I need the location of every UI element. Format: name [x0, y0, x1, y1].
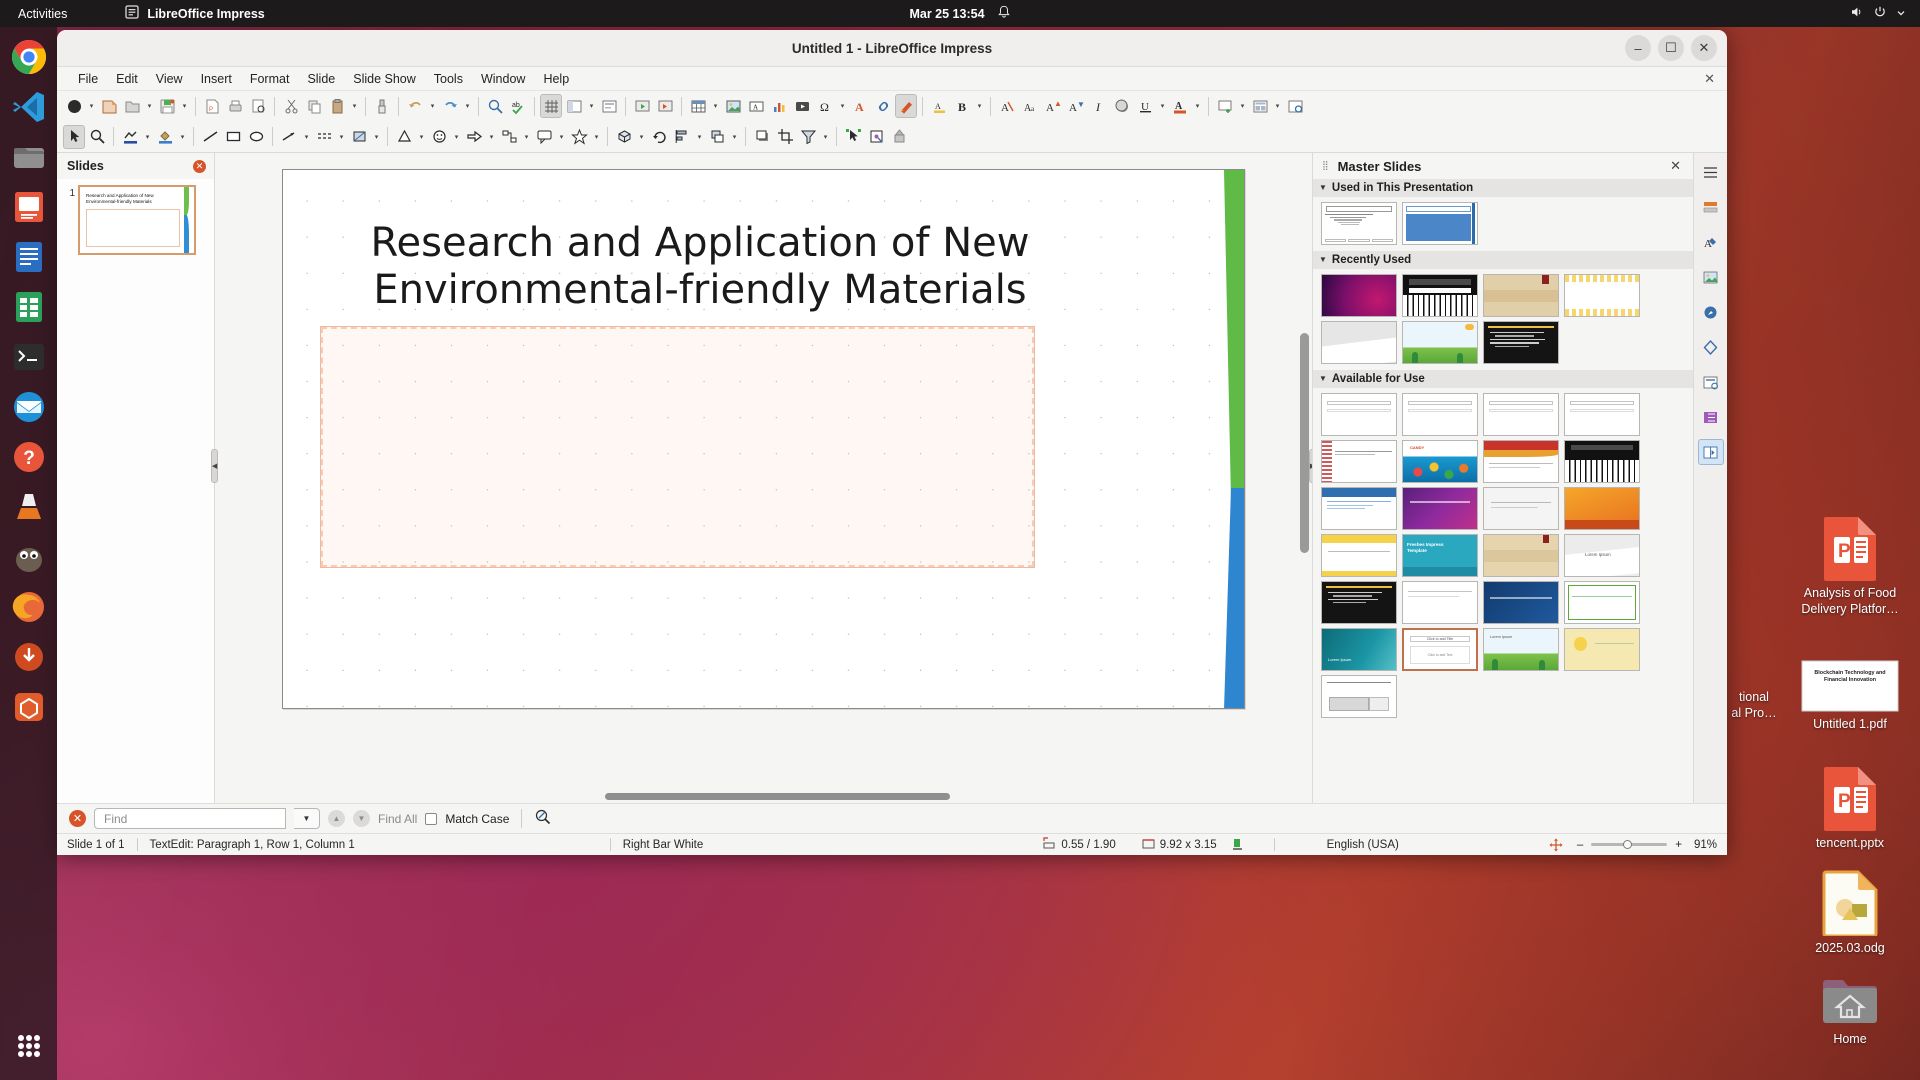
line-color-button[interactable] — [119, 125, 141, 149]
menu-slide[interactable]: Slide — [298, 70, 344, 88]
undo-caret[interactable]: ▾ — [427, 94, 438, 118]
dock-item-terminal[interactable] — [7, 335, 51, 379]
master-thumb-lightgrey[interactable] — [1483, 487, 1559, 530]
master-thumb-blue[interactable] — [1402, 202, 1478, 245]
italic-button[interactable]: I — [1088, 94, 1110, 118]
new-slide-button[interactable] — [1214, 94, 1236, 118]
menu-edit[interactable]: Edit — [107, 70, 147, 88]
block-arrows-button[interactable] — [463, 125, 485, 149]
fit-slide-icon[interactable] — [1549, 838, 1563, 852]
shapes-icon — [1702, 339, 1719, 356]
odg-file-icon — [1822, 870, 1878, 936]
slide-layout-button[interactable] — [1249, 94, 1271, 118]
toolbar-separator — [521, 809, 522, 828]
status-bar: Slide 1 of 1 TextEdit: Paragraph 1, Row … — [57, 833, 1727, 855]
svg-text:I: I — [1095, 100, 1101, 114]
zoom-in-button[interactable]: + — [1675, 839, 1682, 851]
insert-hyperlink-button[interactable] — [872, 94, 894, 118]
svg-text:A: A — [855, 100, 864, 114]
arrange-caret[interactable]: ▾ — [729, 125, 740, 149]
3d-objects-button[interactable] — [613, 125, 635, 149]
lines-and-arrows-button[interactable] — [278, 125, 300, 149]
slide-properties-button[interactable] — [1284, 94, 1306, 118]
fill-style-button[interactable] — [348, 125, 370, 149]
bold-button[interactable]: B — [951, 94, 973, 118]
print-preview-button[interactable] — [247, 94, 269, 118]
line-style-caret[interactable]: ▾ — [336, 125, 347, 149]
ubuntu-dock[interactable]: ? — [0, 27, 57, 1080]
slide-thumbnail[interactable]: Research and Application of New Environm… — [78, 185, 196, 255]
shadow-button[interactable] — [1111, 94, 1133, 118]
3d-objects-caret[interactable]: ▾ — [636, 125, 647, 149]
arrange-button[interactable] — [706, 125, 728, 149]
desktop-icon-home-folder[interactable]: Home — [1790, 975, 1910, 1048]
desktop-icon-tencent-pptx[interactable]: P tencent.pptx — [1790, 765, 1910, 852]
vscode-icon — [11, 89, 47, 125]
dock-item-libreoffice-impress[interactable] — [7, 185, 51, 229]
activities-button[interactable]: Activities — [18, 7, 67, 21]
svg-text:?: ? — [23, 448, 35, 469]
svg-text:Blockchain Technology and: Blockchain Technology and — [1814, 670, 1885, 676]
lines-arrows-caret[interactable]: ▾ — [301, 125, 312, 149]
master-thumb-purple[interactable] — [1402, 487, 1478, 530]
minimize-button[interactable]: – — [1625, 35, 1651, 61]
stars-caret[interactable]: ▾ — [591, 125, 602, 149]
animation-icon — [1702, 409, 1719, 426]
section-label: Used in This Presentation — [1332, 182, 1473, 194]
master-thumb-yellow-band[interactable] — [1321, 534, 1397, 577]
zoom-level[interactable]: 91% — [1694, 839, 1717, 851]
zoom-out-button[interactable]: – — [1577, 839, 1583, 851]
master-thumb-blue-list[interactable] — [1321, 487, 1397, 530]
ellipse-button[interactable] — [245, 125, 267, 149]
clear-formatting-button[interactable]: A — [996, 94, 1018, 118]
chevron-down-icon[interactable]: ▼ — [294, 808, 320, 829]
close-icon[interactable]: ✕ — [1670, 158, 1681, 174]
dock-item-software-updater[interactable] — [7, 635, 51, 679]
sidebar-tab-animation[interactable] — [1698, 404, 1724, 430]
master-slides-icon — [1702, 374, 1719, 391]
menu-tools[interactable]: Tools — [425, 70, 472, 88]
insert-textbox-button[interactable]: A — [745, 94, 767, 118]
section-recently-used[interactable]: ▼ Recently Used — [1313, 251, 1694, 269]
find-replace-icon[interactable] — [534, 808, 551, 830]
block-arrows-caret[interactable]: ▾ — [486, 125, 497, 149]
active-app-indicator[interactable]: LibreOffice Impress — [125, 5, 264, 22]
dock-item-firefox[interactable] — [7, 585, 51, 629]
start-from-first-slide-button[interactable] — [631, 94, 653, 118]
new-presentation-caret[interactable]: ▾ — [86, 94, 97, 118]
svg-text:P: P — [1838, 541, 1851, 562]
master-thumb-dark-list-2[interactable] — [1321, 581, 1397, 624]
toolbar-separator — [990, 97, 991, 116]
master-thumb-orange[interactable] — [1564, 487, 1640, 530]
slide-canvas[interactable]: Research and Application of New Environm… — [282, 169, 1245, 709]
sidebar-tab-gallery[interactable] — [1698, 264, 1724, 290]
slides-list[interactable]: 1 Research and Application of New Enviro… — [57, 179, 214, 803]
dock-item-gimp[interactable] — [7, 535, 51, 579]
dock-item-ubuntu-software[interactable] — [7, 685, 51, 729]
fill-style-caret[interactable]: ▾ — [371, 125, 382, 149]
menu-window[interactable]: Window — [472, 70, 534, 88]
open-file-button[interactable] — [121, 94, 143, 118]
redo-caret[interactable]: ▾ — [462, 94, 473, 118]
master-slide-button[interactable] — [598, 94, 620, 118]
master-thumb-nature[interactable] — [1402, 321, 1478, 364]
master-thumb-plain-3[interactable] — [1483, 393, 1559, 436]
firefox-icon — [11, 589, 47, 625]
master-thumb-plain-5[interactable] — [1402, 581, 1478, 624]
scrollbar-thumb[interactable] — [1300, 333, 1309, 553]
master-thumb-freshes[interactable]: Freshes ImpressTemplate — [1402, 534, 1478, 577]
start-from-current-slide-button[interactable] — [654, 94, 676, 118]
symbol-shapes-button[interactable] — [428, 125, 450, 149]
master-thumb-plain-2[interactable] — [1402, 393, 1478, 436]
clock-area[interactable]: Mar 25 13:54 — [909, 5, 1010, 22]
dock-item-thunderbird[interactable] — [7, 385, 51, 429]
master-thumb-piano[interactable] — [1402, 274, 1478, 317]
section-label: Recently Used — [1332, 254, 1411, 266]
sidebar-settings-button[interactable] — [1698, 159, 1724, 185]
save-caret[interactable]: ▾ — [179, 94, 190, 118]
master-thumb-default[interactable] — [1321, 202, 1397, 245]
master-slides-title: Master Slides — [1338, 159, 1422, 174]
find-all-button[interactable]: Find All — [378, 812, 417, 826]
svg-text:▲: ▲ — [1054, 99, 1062, 108]
position-icon — [1043, 837, 1056, 853]
close-document-button[interactable]: ✕ — [1704, 71, 1715, 87]
calc-icon — [11, 289, 47, 325]
align-objects-button[interactable] — [671, 125, 693, 149]
rectangle-button[interactable] — [222, 125, 244, 149]
rotate-button[interactable] — [648, 125, 670, 149]
points-button[interactable] — [842, 125, 864, 149]
increase-font-size-button[interactable]: A▲ — [1042, 94, 1064, 118]
modified-icon[interactable] — [1231, 838, 1244, 851]
transition-icon — [1702, 444, 1719, 461]
master-thumb-grey-elegant-2[interactable]: Lorem Ipsum — [1564, 534, 1640, 577]
select-tool-button[interactable] — [63, 125, 85, 149]
print-button[interactable] — [224, 94, 246, 118]
copy-button[interactable] — [303, 94, 325, 118]
insert-table-caret[interactable]: ▾ — [710, 94, 721, 118]
sidebar-tab-master-slides[interactable] — [1698, 369, 1724, 395]
clock-label: Mar 25 13:54 — [909, 7, 984, 21]
active-app-label: LibreOffice Impress — [147, 7, 264, 21]
files-icon — [11, 139, 47, 175]
edit-state: TextEdit: Paragraph 1, Row 1, Column 1 — [150, 839, 355, 851]
basic-shapes-caret[interactable]: ▾ — [416, 125, 427, 149]
new-slide-caret[interactable]: ▾ — [1237, 94, 1248, 118]
impress-icon — [11, 189, 47, 225]
scrollbar-thumb[interactable] — [605, 793, 950, 800]
master-blue-bar — [184, 215, 189, 253]
grip-icon[interactable]: ⣿ — [1322, 162, 1330, 169]
navigator-icon — [1702, 304, 1719, 321]
menu-view[interactable]: View — [147, 70, 192, 88]
display-grid-button[interactable] — [540, 94, 562, 118]
size-value: 9.92 x 3.15 — [1160, 839, 1217, 851]
toggle-extrusion-button[interactable] — [888, 125, 910, 149]
pptx-file-icon: P — [1822, 515, 1878, 581]
slide-number: 1 — [63, 185, 75, 199]
symbol-shapes-caret[interactable]: ▾ — [451, 125, 462, 149]
bold-caret[interactable]: ▾ — [974, 94, 985, 118]
master-thumb-candy[interactable]: CANDY — [1402, 440, 1478, 483]
master-thumb-piano-2[interactable] — [1564, 440, 1640, 483]
open-template-button[interactable] — [98, 94, 120, 118]
line-style-button[interactable] — [313, 125, 335, 149]
match-case-label[interactable]: Match Case — [445, 812, 509, 826]
position-value: 0.55 / 1.90 — [1061, 839, 1115, 851]
display-views-caret[interactable]: ▾ — [586, 94, 597, 118]
find-previous-button[interactable]: ▲ — [328, 810, 345, 827]
zoom-tool-button[interactable] — [86, 125, 108, 149]
system-indicators[interactable] — [1850, 5, 1906, 22]
desktop-icon-label: Home — [1833, 1032, 1866, 1048]
stars-button[interactable] — [568, 125, 590, 149]
underline-caret[interactable]: ▾ — [1157, 94, 1168, 118]
chevron-down-icon — [1896, 7, 1906, 21]
menu-file[interactable]: File — [69, 70, 107, 88]
chevron-down-icon: ▼ — [1319, 374, 1327, 383]
desktop-icon-untitled-1-pdf[interactable]: Blockchain Technology and Financial Inno… — [1790, 660, 1910, 733]
vertical-scrollbar[interactable] — [1300, 213, 1309, 633]
underline-button[interactable]: U — [1134, 94, 1156, 118]
toolbar-separator — [113, 127, 114, 146]
master-thumb-nature-2[interactable]: Lorem Ipsum — [1483, 628, 1559, 671]
window-title: Untitled 1 - LibreOffice Impress — [792, 41, 992, 56]
chevron-down-icon: ▼ — [1319, 183, 1327, 192]
dock-item-files[interactable] — [7, 135, 51, 179]
find-replace-button[interactable] — [484, 94, 506, 118]
zoom-slider[interactable] — [1591, 843, 1667, 846]
toolbar-separator — [922, 97, 923, 116]
insert-chart-button[interactable] — [768, 94, 790, 118]
master-thumb-vintage[interactable] — [1483, 274, 1559, 317]
master-thumb-deepblue[interactable] — [1483, 581, 1559, 624]
match-case-checkbox[interactable] — [425, 813, 437, 825]
desktop-icon-label: tencent.pptx — [1816, 836, 1884, 852]
find-next-button[interactable]: ▼ — [353, 810, 370, 827]
callouts-caret[interactable]: ▾ — [556, 125, 567, 149]
insert-line-button[interactable] — [199, 125, 221, 149]
cursor-position: 0.55 / 1.90 — [1043, 837, 1115, 853]
fill-color-button[interactable] — [154, 125, 176, 149]
sidebar-tab-slide-transition[interactable] — [1698, 439, 1724, 465]
gimp-icon — [11, 539, 47, 575]
master-thumb-bright-blue[interactable] — [1321, 274, 1397, 317]
close-icon[interactable]: ✕ — [193, 160, 206, 173]
font-color-caret[interactable]: ▾ — [1192, 94, 1203, 118]
paste-caret[interactable]: ▾ — [349, 94, 360, 118]
insert-special-character-button[interactable]: Ω — [814, 94, 836, 118]
dock-item-visual-studio-code[interactable] — [7, 85, 51, 129]
svg-text:A: A — [1001, 102, 1009, 114]
menu-format[interactable]: Format — [241, 70, 299, 88]
standard-toolbar: ▾ ▾ ▾ P ▾ ▾ ▾ — [57, 91, 1727, 121]
slide-count: Slide 1 of 1 — [67, 839, 125, 851]
sidebar-tab-strip[interactable]: A — [1693, 153, 1727, 803]
toolbar-separator — [607, 127, 608, 146]
font-color-button[interactable]: A — [1169, 94, 1191, 118]
master-thumb-chart[interactable] — [1321, 675, 1397, 718]
show-draw-functions-button[interactable] — [895, 94, 917, 118]
grid-icon — [11, 1028, 47, 1064]
new-presentation-button[interactable] — [63, 94, 85, 118]
collapse-slides-panel-handle[interactable]: ◀ — [211, 449, 218, 483]
filter-button[interactable] — [797, 125, 819, 149]
toolbar-separator — [398, 97, 399, 116]
volume-icon — [1850, 5, 1864, 22]
sidebar-tab-shapes[interactable] — [1698, 334, 1724, 360]
slides-panel-header: Slides ✕ — [57, 153, 214, 179]
master-green-bar — [1224, 170, 1244, 500]
line-color-caret[interactable]: ▾ — [142, 125, 153, 149]
align-caret[interactable]: ▾ — [694, 125, 705, 149]
character-spacing-button[interactable]: Aa — [1019, 94, 1041, 118]
sidebar-tab-styles[interactable]: A — [1698, 229, 1724, 255]
crop-image-button[interactable] — [774, 125, 796, 149]
fill-color-caret[interactable]: ▾ — [177, 125, 188, 149]
window-titlebar: Untitled 1 - LibreOffice Impress – ☐ ✕ — [57, 30, 1727, 67]
sidebar-tab-navigator[interactable] — [1698, 299, 1724, 325]
pdf-file-icon: Blockchain Technology and Financial Inno… — [1801, 660, 1899, 712]
available-for-use-grid[interactable]: CANDY — [1313, 388, 1694, 724]
dock-item-libreoffice-writer[interactable] — [7, 235, 51, 279]
vlc-icon — [11, 489, 47, 525]
dock-item-show-applications[interactable] — [7, 1024, 51, 1068]
search-input[interactable]: Find — [94, 808, 286, 829]
slide-title-text[interactable]: Research and Application of New Environm… — [325, 220, 1075, 314]
svg-text:A: A — [1069, 102, 1077, 114]
toolbar-separator — [625, 97, 626, 116]
shadow-toggle-button[interactable] — [751, 125, 773, 149]
callouts-button[interactable] — [533, 125, 555, 149]
chrome-icon — [11, 39, 47, 75]
master-slides-sidebar: ⣿ Master Slides ✕ ▼ Used in This Present… — [1312, 153, 1727, 803]
undo-button[interactable] — [404, 94, 426, 118]
section-available-for-use[interactable]: ▼ Available for Use — [1313, 370, 1694, 388]
master-thumb-red-curve[interactable] — [1483, 440, 1559, 483]
master-thumb-green-outline[interactable] — [1564, 581, 1640, 624]
export-pdf-button[interactable]: P — [201, 94, 223, 118]
menu-slide-show[interactable]: Slide Show — [344, 70, 425, 88]
master-blue-bar — [1224, 488, 1244, 709]
flowchart-button[interactable] — [498, 125, 520, 149]
master-thumb-grey-elegant[interactable] — [1321, 321, 1397, 364]
spelling-button[interactable]: ab — [507, 94, 529, 118]
power-icon — [1873, 5, 1887, 22]
master-slides-scroll-content: ▼ Used in This Presentation — [1313, 179, 1694, 724]
slide-edit-area[interactable]: Research and Application of New Environm… — [215, 153, 1312, 803]
maximize-button[interactable]: ☐ — [1658, 35, 1684, 61]
sidebar-tab-properties[interactable] — [1698, 194, 1724, 220]
recently-used-grid[interactable] — [1313, 269, 1694, 370]
master-thumb-dark-list[interactable] — [1483, 321, 1559, 364]
language[interactable]: English (USA) — [1327, 839, 1399, 851]
desktop-icon-label: 2025.03.odg — [1815, 941, 1885, 957]
open-file-caret[interactable]: ▾ — [144, 94, 155, 118]
section-used-in-this-presentation[interactable]: ▼ Used in This Presentation — [1313, 179, 1694, 197]
dock-item-libreoffice-calc[interactable] — [7, 285, 51, 329]
insert-audio-video-button[interactable] — [791, 94, 813, 118]
divider — [610, 838, 611, 851]
paste-button[interactable] — [326, 94, 348, 118]
master-thumb-selected-plain[interactable]: Click to add Title Click to add Text — [1402, 628, 1478, 671]
master-thumb-plain-1[interactable] — [1321, 393, 1397, 436]
svg-text:P: P — [209, 107, 213, 113]
master-thumb-plain-4[interactable] — [1564, 393, 1640, 436]
display-views-button[interactable] — [563, 94, 585, 118]
master-thumb-bulb[interactable] — [1564, 628, 1640, 671]
cut-button[interactable] — [280, 94, 302, 118]
decrease-font-size-button[interactable]: A▼ — [1065, 94, 1087, 118]
svg-text:P: P — [1838, 791, 1851, 812]
dock-item-google-chrome[interactable] — [7, 35, 51, 79]
master-thumb-sidebar-left[interactable] — [1321, 440, 1397, 483]
insert-fontwork-button[interactable]: A — [849, 94, 871, 118]
toolbar-separator — [195, 97, 196, 116]
clone-formatting-button[interactable] — [371, 94, 393, 118]
svg-text:a: a — [1031, 105, 1035, 113]
svg-text:▼: ▼ — [1077, 100, 1085, 109]
gnome-top-bar: Activities LibreOffice Impress Mar 25 13… — [0, 0, 1920, 27]
desktop-icon-analysis-of-food-delivery[interactable]: P Analysis of FoodDelivery Platfor… — [1790, 515, 1910, 617]
zoom-slider-knob[interactable] — [1623, 840, 1632, 849]
svg-text:A: A — [1046, 102, 1054, 114]
flowchart-caret[interactable]: ▾ — [521, 125, 532, 149]
insert-image-button[interactable] — [722, 94, 744, 118]
special-char-caret[interactable]: ▾ — [837, 94, 848, 118]
svg-text:Financial Innovation: Financial Innovation — [1824, 677, 1876, 683]
list-item[interactable]: 1 Research and Application of New Enviro… — [57, 185, 214, 255]
insert-table-button[interactable] — [687, 94, 709, 118]
gallery-icon — [1702, 269, 1719, 286]
svg-text:ab: ab — [512, 102, 520, 109]
menu-insert[interactable]: Insert — [192, 70, 241, 88]
master-slide-name[interactable]: Right Bar White — [623, 839, 704, 851]
master-thumb-teal-curve[interactable]: Lorem Ipsum — [1321, 628, 1397, 671]
find-toolbar: ✕ Find ▼ ▲ ▼ Find All Match Case — [57, 803, 1727, 833]
desktop-icon-label: Analysis of FoodDelivery Platfor… — [1801, 586, 1898, 617]
find-placeholder: Find — [104, 812, 127, 826]
toolbar-separator — [387, 127, 388, 146]
dock-item-help[interactable]: ? — [7, 435, 51, 479]
glue-points-button[interactable] — [865, 125, 887, 149]
basic-shapes-button[interactable] — [393, 125, 415, 149]
close-button[interactable]: ✕ — [1691, 35, 1717, 61]
horizontal-scrollbar[interactable] — [215, 791, 1312, 803]
master-thumb-yellow-dots[interactable] — [1564, 274, 1640, 317]
section-label: Available for Use — [1332, 373, 1425, 385]
master-thumb-vintage-2[interactable] — [1483, 534, 1559, 577]
redo-button[interactable] — [439, 94, 461, 118]
menu-help[interactable]: Help — [534, 70, 578, 88]
character-highlighting-button[interactable]: A — [928, 94, 950, 118]
slides-panel: Slides ✕ 1 Research and Application of N… — [57, 153, 215, 803]
slide-layout-caret[interactable]: ▾ — [1272, 94, 1283, 118]
dock-item-vlc[interactable] — [7, 485, 51, 529]
toolbar-separator — [478, 97, 479, 116]
filter-caret[interactable]: ▾ — [820, 125, 831, 149]
close-icon[interactable]: ✕ — [69, 810, 86, 827]
desktop-icon-2025-03-odg[interactable]: 2025.03.odg — [1790, 870, 1910, 957]
used-in-presentation-grid[interactable] — [1313, 197, 1694, 251]
save-button[interactable] — [156, 94, 178, 118]
properties-icon — [1702, 199, 1719, 216]
content-placeholder[interactable] — [320, 326, 1035, 568]
